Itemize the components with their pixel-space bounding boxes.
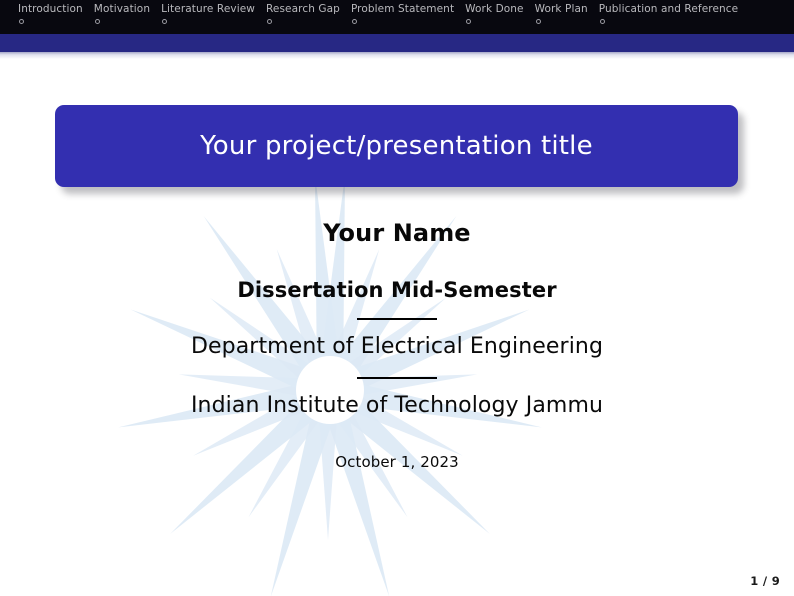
institute-name: Indian Institute of Technology Jammu — [0, 392, 794, 420]
nav-item-label: Work Plan — [535, 0, 588, 16]
navigation-header: Introduction Motivation Literature Revie… — [0, 0, 794, 34]
section-dot-icon[interactable] — [536, 19, 541, 24]
page-title: Your project/presentation title — [200, 131, 593, 161]
nav-item-label: Publication and Reference — [599, 0, 738, 16]
navigation-items: Introduction Motivation Literature Revie… — [18, 0, 749, 24]
nav-item-literature-review[interactable]: Literature Review — [161, 0, 255, 24]
nav-item-label: Introduction — [18, 0, 83, 16]
navigation-rule-shadow — [0, 52, 794, 59]
section-dot-icon[interactable] — [267, 19, 272, 24]
department-name: Department of Electrical Engineering — [0, 333, 794, 361]
section-dot-icon[interactable] — [352, 19, 357, 24]
nav-item-work-plan[interactable]: Work Plan — [535, 0, 588, 24]
presentation-date: October 1, 2023 — [0, 420, 794, 472]
title-slide-body: Your Name Dissertation Mid-Semester Depa… — [0, 218, 794, 472]
presentation-subtitle: Dissertation Mid-Semester — [0, 248, 794, 303]
section-dot-icon[interactable] — [19, 19, 24, 24]
nav-item-research-gap[interactable]: Research Gap — [266, 0, 340, 24]
nav-item-publication-and-reference[interactable]: Publication and Reference — [599, 0, 738, 24]
section-dot-icon[interactable] — [466, 19, 471, 24]
author-name: Your Name — [0, 218, 794, 248]
nav-item-motivation[interactable]: Motivation — [94, 0, 150, 24]
divider-rule — [357, 318, 437, 320]
slide-footer: 1 / 9 — [750, 570, 780, 589]
nav-item-problem-statement[interactable]: Problem Statement — [351, 0, 454, 24]
nav-item-label: Problem Statement — [351, 0, 454, 16]
presentation-slide: Introduction Motivation Literature Revie… — [0, 0, 794, 596]
nav-item-introduction[interactable]: Introduction — [18, 0, 83, 24]
nav-item-label: Literature Review — [161, 0, 255, 16]
nav-item-work-done[interactable]: Work Done — [465, 0, 523, 24]
presentation-title-box: Your project/presentation title — [55, 105, 738, 187]
navigation-rule — [0, 34, 794, 52]
page-number: 1 / 9 — [750, 574, 780, 588]
nav-item-label: Work Done — [465, 0, 523, 16]
section-dot-icon[interactable] — [95, 19, 100, 24]
nav-item-label: Motivation — [94, 0, 150, 16]
separator-wrap — [0, 303, 794, 333]
section-dot-icon[interactable] — [600, 19, 605, 24]
nav-item-label: Research Gap — [266, 0, 340, 16]
divider-rule — [357, 377, 437, 379]
separator-wrap — [0, 361, 794, 392]
section-dot-icon[interactable] — [162, 19, 167, 24]
